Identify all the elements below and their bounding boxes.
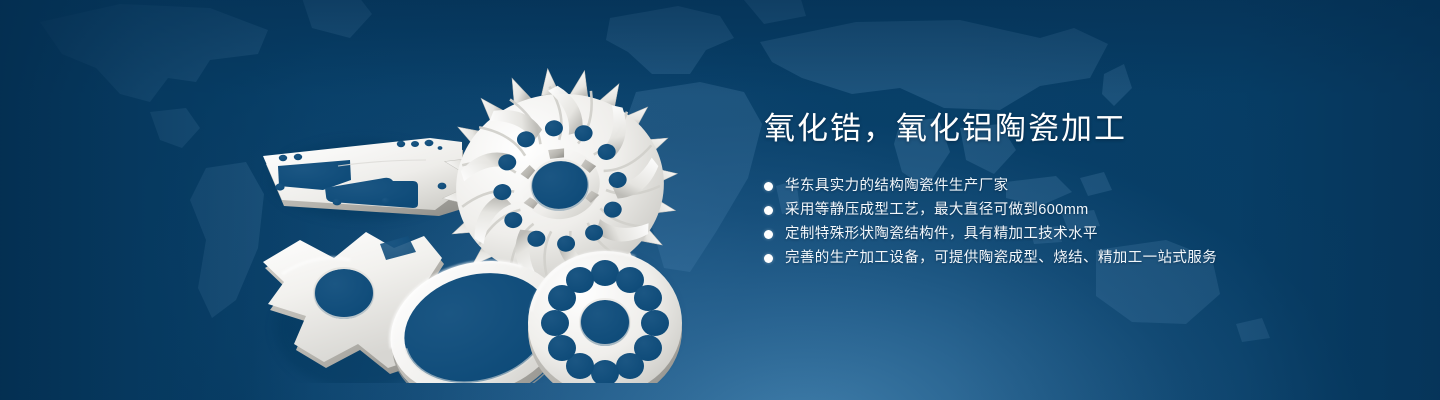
- ceramic-plate-with-cutouts: [263, 138, 465, 216]
- promo-banner: 氧化锆，氧化铝陶瓷加工 华东具实力的结构陶瓷件生产厂家 采用等静压成型工艺，最大…: [0, 0, 1440, 400]
- banner-copy: 氧化锆，氧化铝陶瓷加工 华东具实力的结构陶瓷件生产厂家 采用等静压成型工艺，最大…: [764, 108, 1384, 270]
- bullet-dot-icon: [764, 182, 773, 191]
- bullet-text: 完善的生产加工设备，可提供陶瓷成型、烧结、精加工一站式服务: [785, 246, 1217, 270]
- bullet-dot-icon: [764, 254, 773, 263]
- list-item: 完善的生产加工设备，可提供陶瓷成型、烧结、精加工一站式服务: [764, 246, 1384, 270]
- bullet-text: 采用等静压成型工艺，最大直径可做到600mm: [785, 198, 1089, 222]
- bullet-text: 华东具实力的结构陶瓷件生产厂家: [785, 174, 1009, 198]
- banner-headline: 氧化锆，氧化铝陶瓷加工: [764, 108, 1384, 150]
- product-photo-group: [230, 38, 690, 383]
- bullet-dot-icon: [764, 230, 773, 239]
- bullet-text: 定制特殊形状陶瓷结构件，具有精加工技术水平: [785, 222, 1098, 246]
- list-item: 采用等静压成型工艺，最大直径可做到600mm: [764, 198, 1384, 222]
- bullet-dot-icon: [764, 206, 773, 215]
- list-item: 定制特殊形状陶瓷结构件，具有精加工技术水平: [764, 222, 1384, 246]
- feature-bullet-list: 华东具实力的结构陶瓷件生产厂家 采用等静压成型工艺，最大直径可做到600mm 定…: [764, 174, 1384, 270]
- list-item: 华东具实力的结构陶瓷件生产厂家: [764, 174, 1384, 198]
